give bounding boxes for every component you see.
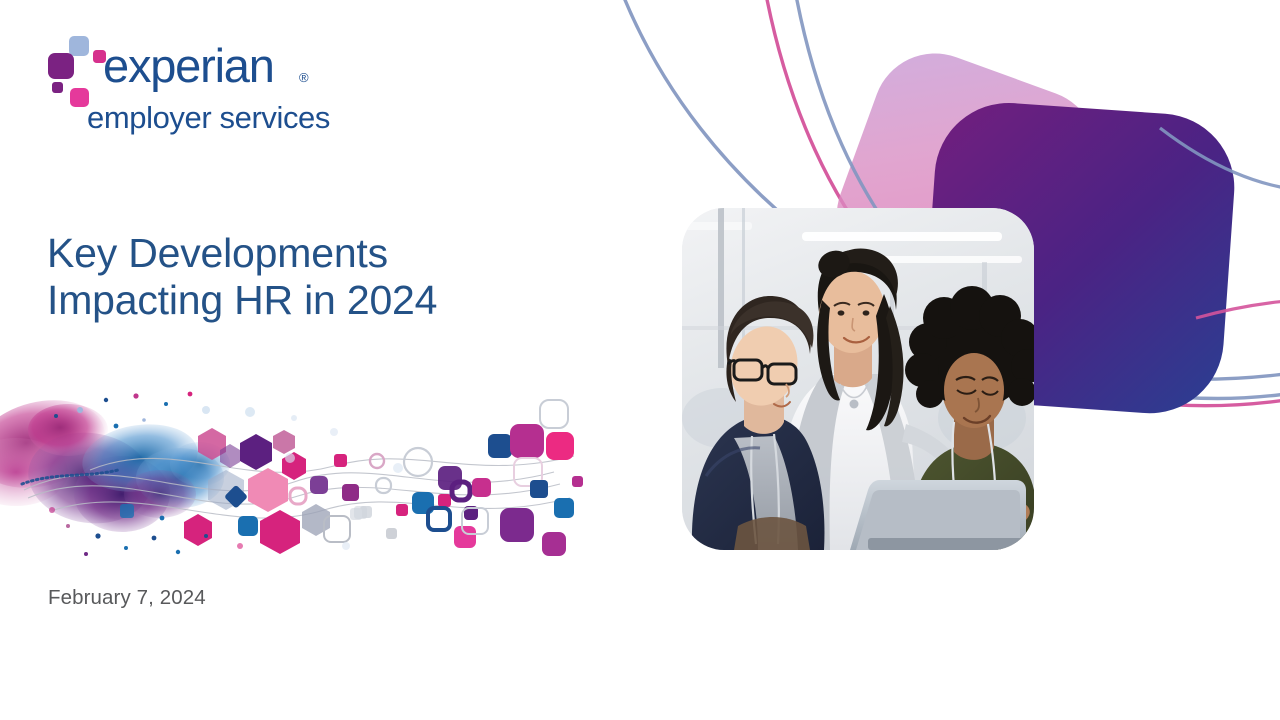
ribbon-dot-string <box>22 470 118 484</box>
arc-blue-gray-right <box>1160 128 1280 190</box>
dot-purple <box>52 82 63 93</box>
logo-wordmark: experian ® <box>103 37 353 97</box>
ribbon-flow-lines <box>24 456 574 518</box>
experian-employer-services-logo: experian ® employer services <box>46 36 426 96</box>
logo-trademark-symbol: ® <box>299 70 309 85</box>
ribbon-dots <box>49 392 403 556</box>
watercolor-splash <box>0 387 230 532</box>
presentation-slide: experian ® employer services Key Develop… <box>0 0 1280 720</box>
square-dark-purple-large <box>48 53 74 79</box>
square-light-blue <box>69 36 89 56</box>
slide-title: Key Developments Impacting HR in 2024 <box>47 230 587 324</box>
decor-data-particle-ribbon <box>0 386 590 572</box>
logo-mark-row: experian ® <box>46 36 426 96</box>
office-team-photo <box>682 208 1034 550</box>
logo-tagline: employer services <box>87 99 397 137</box>
laptop <box>850 480 1026 550</box>
slide-title-line-2: Impacting HR in 2024 <box>47 277 587 324</box>
arc-pink-right <box>1196 300 1280 318</box>
logo-squares-icon <box>46 36 108 108</box>
logo-wordmark-text: experian <box>103 39 274 92</box>
slide-title-line-1: Key Developments <box>47 230 388 276</box>
slide-date: February 7, 2024 <box>48 586 206 610</box>
ribbon-rounded-squares <box>120 400 583 556</box>
ribbon-hexagons <box>184 428 330 554</box>
logo-tagline-text: employer services <box>87 100 330 135</box>
